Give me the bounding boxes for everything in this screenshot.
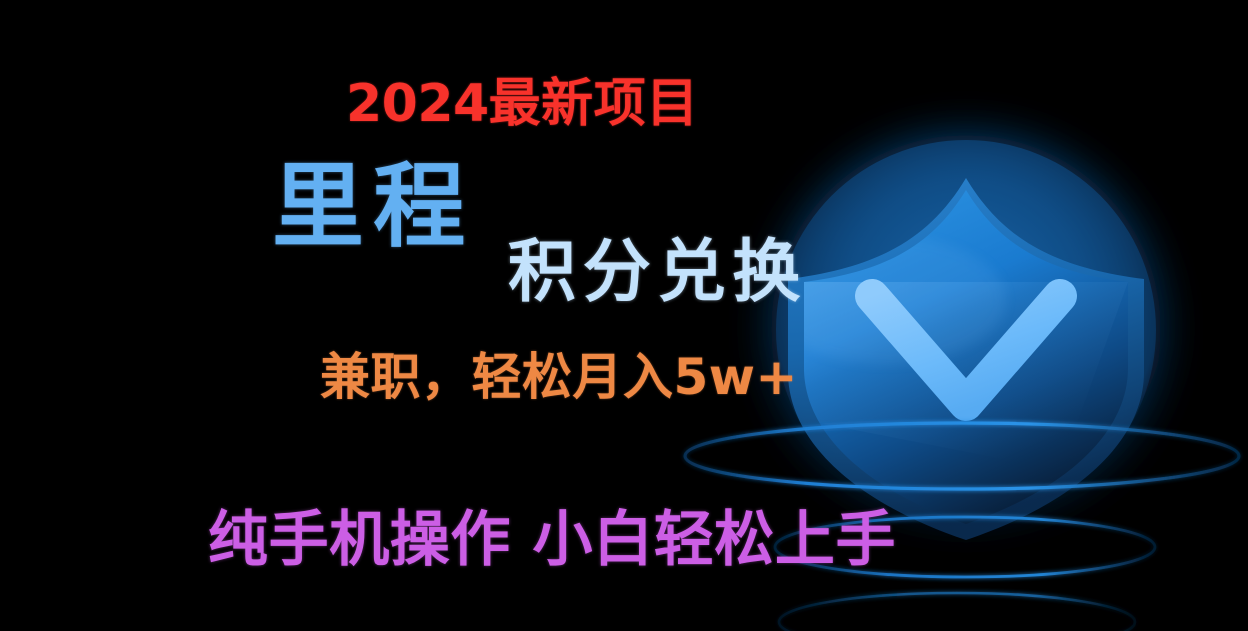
headline-income: 兼职，轻松月入5w+ xyxy=(320,352,798,402)
promo-banner: 2024最新项目 里程 积分兑换 兼职，轻松月入5w+ 纯手机操作 小白轻松上手 xyxy=(0,0,1248,631)
shield-outer-plate xyxy=(788,178,1144,540)
headline-title-cjk: 最新项目 xyxy=(489,73,699,134)
headline-title: 2024最新项目 xyxy=(346,78,699,130)
orbital-ring-top xyxy=(685,423,1239,489)
check-chevron-icon xyxy=(872,296,1060,404)
headline-brand: 里程 xyxy=(272,160,474,252)
headline-subtitle: 积分兑换 xyxy=(508,238,807,306)
orbital-ring-bottom xyxy=(779,593,1135,631)
shield-inner-face xyxy=(766,190,1128,524)
headline-title-number: 2024 xyxy=(346,74,489,134)
headline-ease: 纯手机操作 小白轻松上手 xyxy=(208,510,896,570)
circular-glow xyxy=(771,135,1161,525)
